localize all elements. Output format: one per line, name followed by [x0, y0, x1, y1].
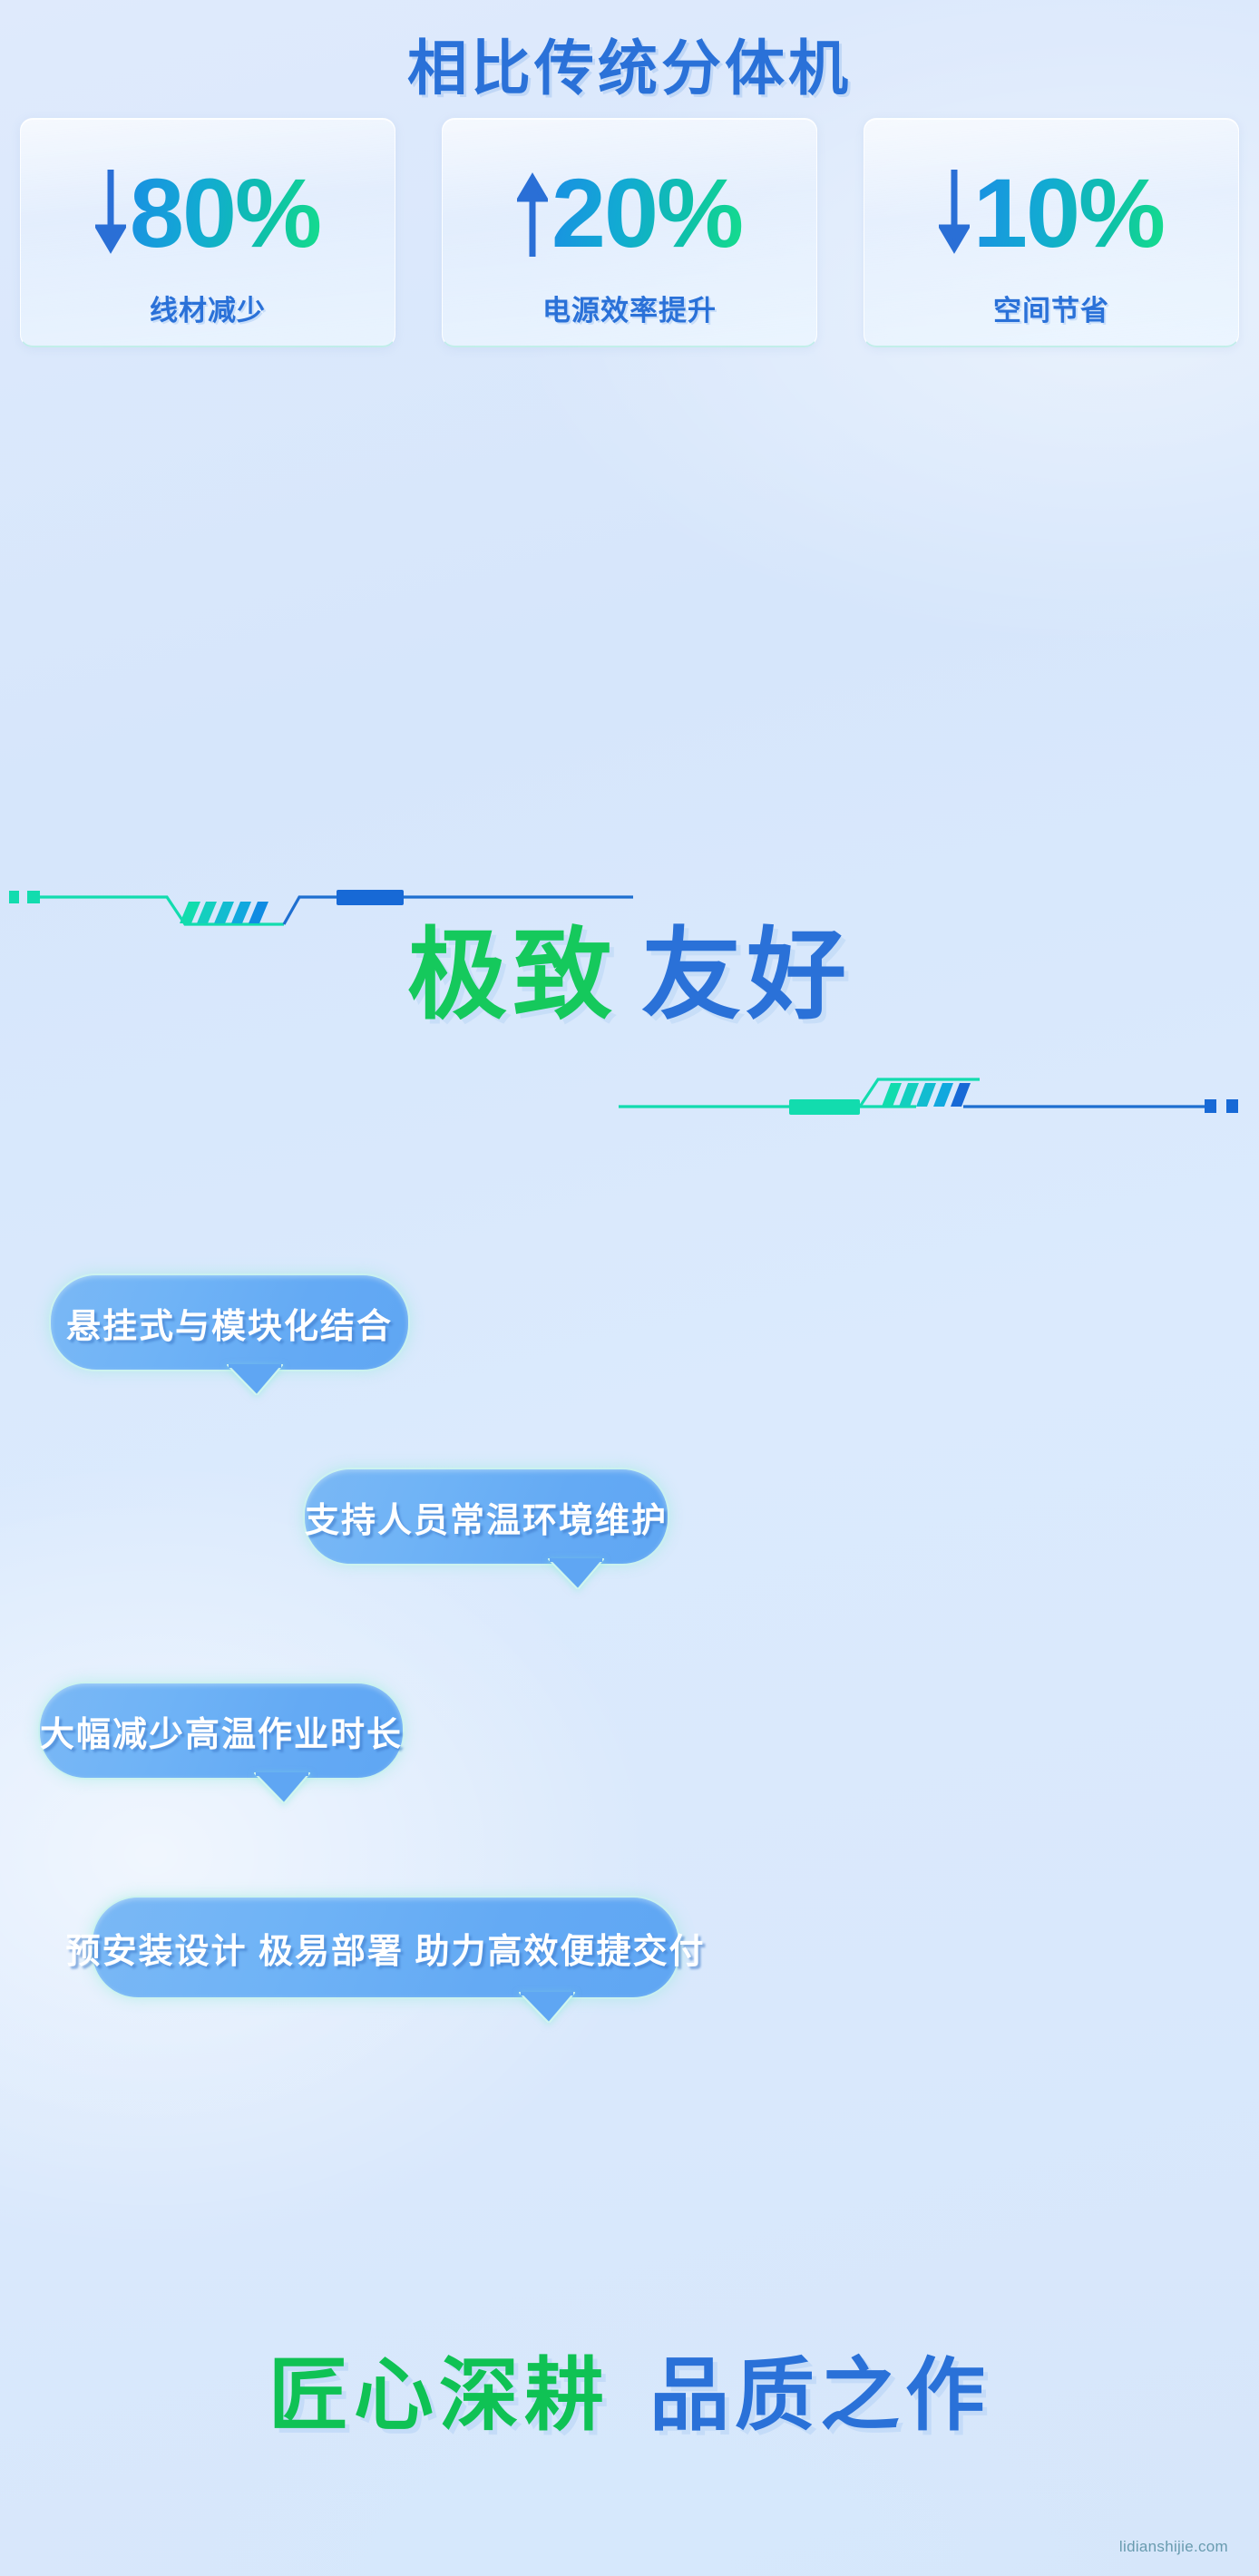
stat-value-1: 80% — [130, 164, 320, 262]
feature-bubble-text-2: 支持人员常温环境维护 — [305, 1492, 668, 1542]
page-title: 相比传统分体机 — [0, 20, 1259, 107]
feature-title: 极致友好 — [0, 916, 1259, 1036]
stat-label-3: 空间节省 — [993, 288, 1109, 328]
stat-value-row-2: 20% — [517, 162, 742, 264]
stat-label-1: 线材减少 — [150, 288, 266, 328]
stat-card-2: 20% 电源效率提升 — [442, 118, 817, 347]
feature-bubble-2: 支持人员常温环境维护 — [303, 1468, 669, 1566]
bubble-tail-icon — [548, 1558, 604, 1589]
feature-title-block: 极致友好 — [0, 862, 1259, 1143]
stat-label-2: 电源效率提升 — [542, 288, 717, 328]
feature-title-blue: 友好 — [641, 920, 852, 1031]
stat-card-3: 10% 空间节省 — [864, 118, 1239, 347]
watermark: lidianshijie.com — [1119, 2538, 1228, 2556]
bubble-tail-icon — [519, 1992, 575, 2023]
feature-bubble-text-1: 悬挂式与模块化结合 — [66, 1298, 393, 1348]
arrow-down-icon — [95, 170, 126, 257]
decorative-circuit-line-bottom — [617, 1063, 1252, 1117]
footer-slogan-blue: 品质之作 — [649, 2350, 991, 2440]
bubble-tail-icon — [227, 1364, 283, 1395]
stat-value-row-3: 10% — [939, 162, 1164, 264]
stat-value-row-1: 80% — [95, 162, 320, 264]
bubble-tail-icon — [254, 1772, 310, 1803]
feature-bubble-3: 大幅减少高温作业时长 — [38, 1682, 405, 1780]
feature-bubble-list: 悬挂式与模块化结合 支持人员常温环境维护 大幅减少高温作业时长 预安装设计 极易… — [0, 1268, 1259, 2139]
stat-value-3: 10% — [973, 164, 1164, 262]
feature-bubble-text-3: 大幅减少高温作业时长 — [40, 1706, 403, 1756]
feature-title-green: 极致 — [407, 920, 618, 1031]
stat-card-row: 80% 线材减少 20% 电源效率提升 — [20, 118, 1239, 347]
arrow-up-icon — [517, 170, 548, 257]
footer-slogan-green: 匠心深耕 — [268, 2350, 610, 2440]
stat-value-2: 20% — [551, 164, 742, 262]
infographic-page: 相比传统分体机 80% 线材减少 20% — [0, 0, 1259, 2576]
feature-bubble-4: 预安装设计 极易部署 助力高效便捷交付 — [91, 1896, 680, 1999]
stat-card-1: 80% 线材减少 — [20, 118, 395, 347]
feature-bubble-text-4: 预安装设计 极易部署 助力高效便捷交付 — [65, 1923, 705, 1973]
arrow-down-icon — [939, 170, 970, 257]
footer-slogan: 匠心深耕品质之作 — [0, 2331, 1259, 2446]
feature-bubble-1: 悬挂式与模块化结合 — [49, 1273, 410, 1371]
